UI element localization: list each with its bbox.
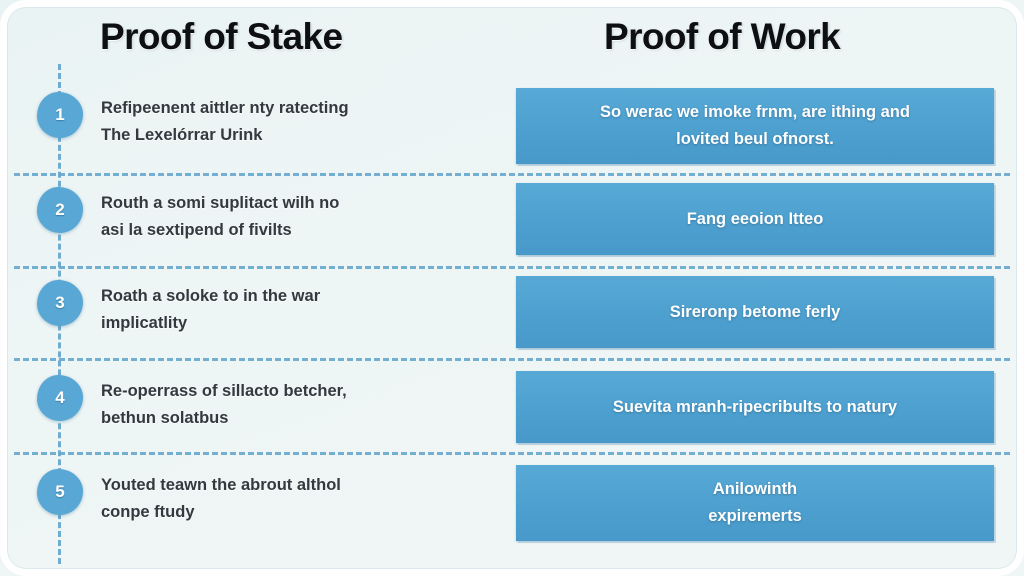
step-marker-4[interactable]: 4 xyxy=(37,375,83,421)
step-marker-2[interactable]: 2 xyxy=(37,187,83,233)
left-item-3-line-2: implicatlity xyxy=(101,310,446,337)
right-item-5-line-2: expiremerts xyxy=(708,503,802,530)
column-headers: Proof of Stake Proof of Work xyxy=(0,0,1024,88)
column-header-left: Proof of Stake xyxy=(100,16,342,58)
step-number-4: 4 xyxy=(55,388,64,408)
right-item-1-line-2: lovited beul ofnorst. xyxy=(600,126,910,153)
row-divider-3 xyxy=(14,358,1010,361)
left-item-3: Roath a soloke to in the war implicatlit… xyxy=(101,283,446,337)
left-item-1-line-1: Refipeenent aittler nty ratecting xyxy=(101,95,446,122)
table-row: 3 Roath a soloke to in the war implicatl… xyxy=(0,273,1024,358)
left-item-2-line-1: Routh a somi suplitact wilh no xyxy=(101,190,446,217)
right-item-2-line-1: Fang eeoion Itteo xyxy=(687,206,824,233)
left-item-2: Routh a somi suplitact wilh no asi la se… xyxy=(101,190,446,244)
left-item-4-line-1: Re-operrass of sillacto betcher, xyxy=(101,378,446,405)
table-row: 2 Routh a somi suplitact wilh no asi la … xyxy=(0,180,1024,266)
right-item-3[interactable]: Sireronp betome ferly xyxy=(516,276,994,348)
right-item-5-text: Anilowinth expiremerts xyxy=(708,476,802,530)
right-item-3-text: Sireronp betome ferly xyxy=(670,299,841,326)
left-item-5-line-1: Youted teawn the abrout althol xyxy=(101,472,446,499)
step-number-5: 5 xyxy=(55,482,64,502)
right-item-5-line-1: Anilowinth xyxy=(708,476,802,503)
column-header-right: Proof of Work xyxy=(604,16,840,58)
right-item-4[interactable]: Suevita mranh-ripecribults to natury xyxy=(516,371,994,443)
step-number-1: 1 xyxy=(55,105,64,125)
table-row: 1 Refipeenent aittler nty ratecting The … xyxy=(0,88,1024,173)
right-item-1-text: So werac we imoke frnm, are ithing and l… xyxy=(600,99,910,153)
left-item-3-line-1: Roath a soloke to in the war xyxy=(101,283,446,310)
comparison-diagram: Proof of Stake Proof of Work 1 Refipeene… xyxy=(0,0,1024,576)
step-marker-5[interactable]: 5 xyxy=(37,469,83,515)
step-number-3: 3 xyxy=(55,293,64,313)
left-item-5: Youted teawn the abrout althol conpe ftu… xyxy=(101,472,446,526)
right-item-5[interactable]: Anilowinth expiremerts xyxy=(516,465,994,541)
left-item-2-line-2: asi la sextipend of fivilts xyxy=(101,217,446,244)
left-item-1-line-2: The Lexelórrar Urink xyxy=(101,122,446,149)
step-marker-1[interactable]: 1 xyxy=(37,92,83,138)
row-divider-1 xyxy=(14,173,1010,176)
right-item-2-text: Fang eeoion Itteo xyxy=(687,206,824,233)
right-item-4-text: Suevita mranh-ripecribults to natury xyxy=(613,394,897,421)
left-item-5-line-2: conpe ftudy xyxy=(101,499,446,526)
left-item-4-line-2: bethun solatbus xyxy=(101,405,446,432)
right-item-4-line-1: Suevita mranh-ripecribults to natury xyxy=(613,394,897,421)
table-row: 4 Re-operrass of sillacto betcher, bethu… xyxy=(0,365,1024,452)
right-item-1-line-1: So werac we imoke frnm, are ithing and xyxy=(600,99,910,126)
step-marker-3[interactable]: 3 xyxy=(37,280,83,326)
left-item-1: Refipeenent aittler nty ratecting The Le… xyxy=(101,95,446,149)
right-item-1[interactable]: So werac we imoke frnm, are ithing and l… xyxy=(516,88,994,164)
left-item-4: Re-operrass of sillacto betcher, bethun … xyxy=(101,378,446,432)
row-divider-4 xyxy=(14,452,1010,455)
right-item-3-line-1: Sireronp betome ferly xyxy=(670,299,841,326)
row-divider-2 xyxy=(14,266,1010,269)
right-item-2[interactable]: Fang eeoion Itteo xyxy=(516,183,994,255)
table-row: 5 Youted teawn the abrout althol conpe f… xyxy=(0,459,1024,549)
step-number-2: 2 xyxy=(55,200,64,220)
